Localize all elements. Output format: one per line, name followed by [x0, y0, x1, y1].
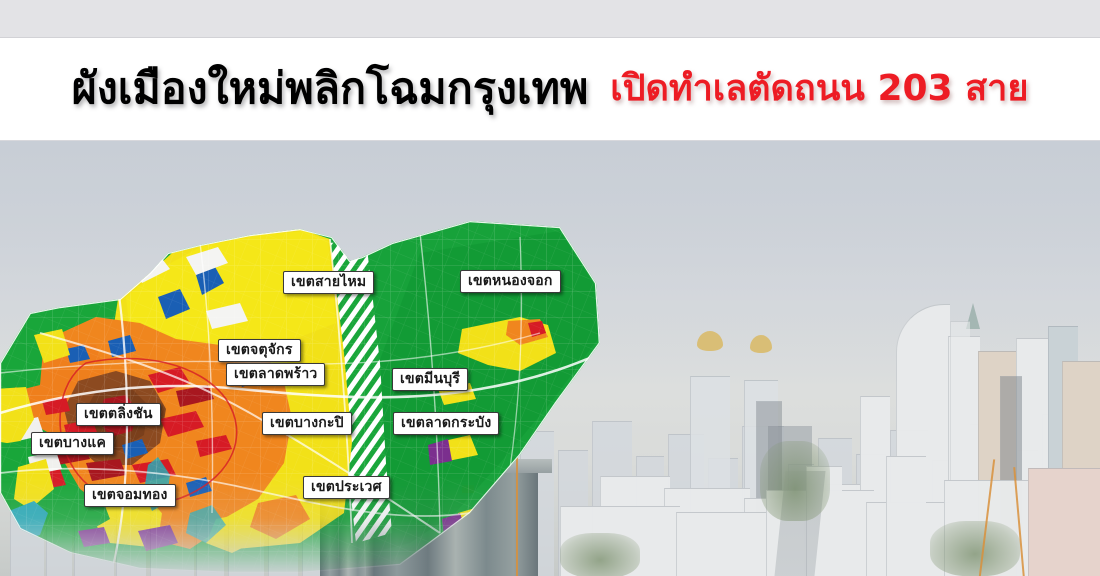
- district-label-bang-kapi[interactable]: เขตบางกะปิ: [262, 412, 352, 435]
- zoning-map-svg: [0, 213, 620, 576]
- building-foreground-white: [676, 512, 772, 576]
- zoning-map-overlay: [0, 213, 620, 576]
- top-gray-band: [0, 0, 1100, 38]
- district-label-min-buri[interactable]: เขตมีนบุรี: [392, 368, 468, 391]
- district-label-taling-chan[interactable]: เขตตลิ่งชัน: [76, 403, 161, 426]
- tree-cluster: [760, 441, 830, 521]
- headline-sub-text: เปิดทำเลตัดถนน 203 สาย: [610, 71, 1028, 107]
- building-foreground-pink: [1028, 468, 1100, 576]
- district-label-bang-khae[interactable]: เขตบางแค: [31, 432, 114, 455]
- gold-dome-icon: [750, 335, 772, 353]
- tree-cluster: [930, 521, 1020, 576]
- district-label-chom-thong[interactable]: เขตจอมทอง: [84, 484, 176, 507]
- gold-dome-icon: [697, 331, 723, 351]
- headline-band: ผังเมืองใหม่พลิกโฉมกรุงเทพ เปิดทำเลตัดถน…: [0, 38, 1100, 141]
- cityscape-photo: [0, 141, 1100, 576]
- district-label-prawet[interactable]: เขตประเวศ: [303, 476, 390, 499]
- district-label-lat-phrao[interactable]: เขตลาดพร้าว: [226, 363, 325, 386]
- infographic-page: ผังเมืองใหม่พลิกโฉมกรุงเทพ เปิดทำเลตัดถน…: [0, 0, 1100, 576]
- district-label-lat-krabang[interactable]: เขตลาดกระบัง: [393, 412, 499, 435]
- district-label-nong-chok[interactable]: เขตหนองจอก: [460, 270, 561, 293]
- district-label-sai-mai[interactable]: เขตสายไหม: [283, 271, 374, 294]
- building-foreground-white: [886, 456, 926, 576]
- headline-main-text: ผังเมืองใหม่พลิกโฉมกรุงเทพ: [72, 68, 589, 111]
- district-label-chatuchak[interactable]: เขตจตุจักร: [218, 339, 301, 362]
